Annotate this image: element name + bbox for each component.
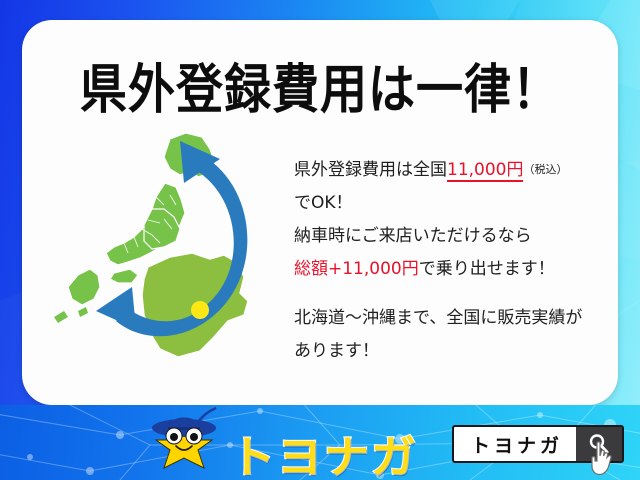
map-kyushu [68, 269, 100, 305]
body-copy: 県外登録費用は全国11,000円（税込） でOK！ 納車時にご来店いただけるなら… [294, 153, 624, 368]
map-okinawa [54, 311, 68, 323]
body-line-6: あります！ [294, 335, 624, 368]
body-line-1-pre: 県外登録費用は全国 [294, 160, 447, 180]
body-line-4-rest: で乗り出せます！ [419, 259, 555, 279]
mascot-pupil-left [170, 433, 178, 441]
brand-banner: トヨナガ トヨナガ [0, 405, 640, 480]
dealer-location-marker [191, 301, 209, 319]
map-small-island [78, 307, 88, 317]
mascot-hat-crown [168, 418, 200, 429]
total-price-highlight: 総額+11,000円 [294, 259, 419, 279]
body-line-2: でOK！ [294, 187, 624, 220]
advertisement-banner: 県外登録費用は一律！ [0, 0, 640, 480]
body-line-5: 北海道〜沖縄まで、全国に販売実績が [294, 302, 624, 335]
search-bar[interactable]: トヨナガ [452, 425, 624, 463]
search-input[interactable]: トヨナガ [454, 427, 576, 461]
text-spacer [294, 286, 624, 302]
mascot-pupil-right [190, 433, 198, 441]
body-line-1: 県外登録費用は全国11,000円（税込） [294, 153, 624, 187]
japan-map-illustration [52, 125, 282, 395]
body-line-4: 総額+11,000円で乗り出せます！ [294, 253, 624, 286]
toyonaga-mascot [142, 406, 226, 478]
mascot-hat-feather [198, 408, 216, 422]
price-highlight: 11,000円 [447, 160, 523, 182]
content-card: 県外登録費用は一律！ [22, 20, 618, 405]
brand-logo-text: トヨナガ [230, 421, 418, 480]
map-shikoku [110, 269, 138, 283]
body-line-3: 納車時にご来店いただけるなら [294, 220, 624, 253]
page-title: 県外登録費用は一律！ [22, 46, 618, 123]
tax-note: （税込） [523, 163, 567, 176]
hand-cursor [588, 441, 618, 477]
